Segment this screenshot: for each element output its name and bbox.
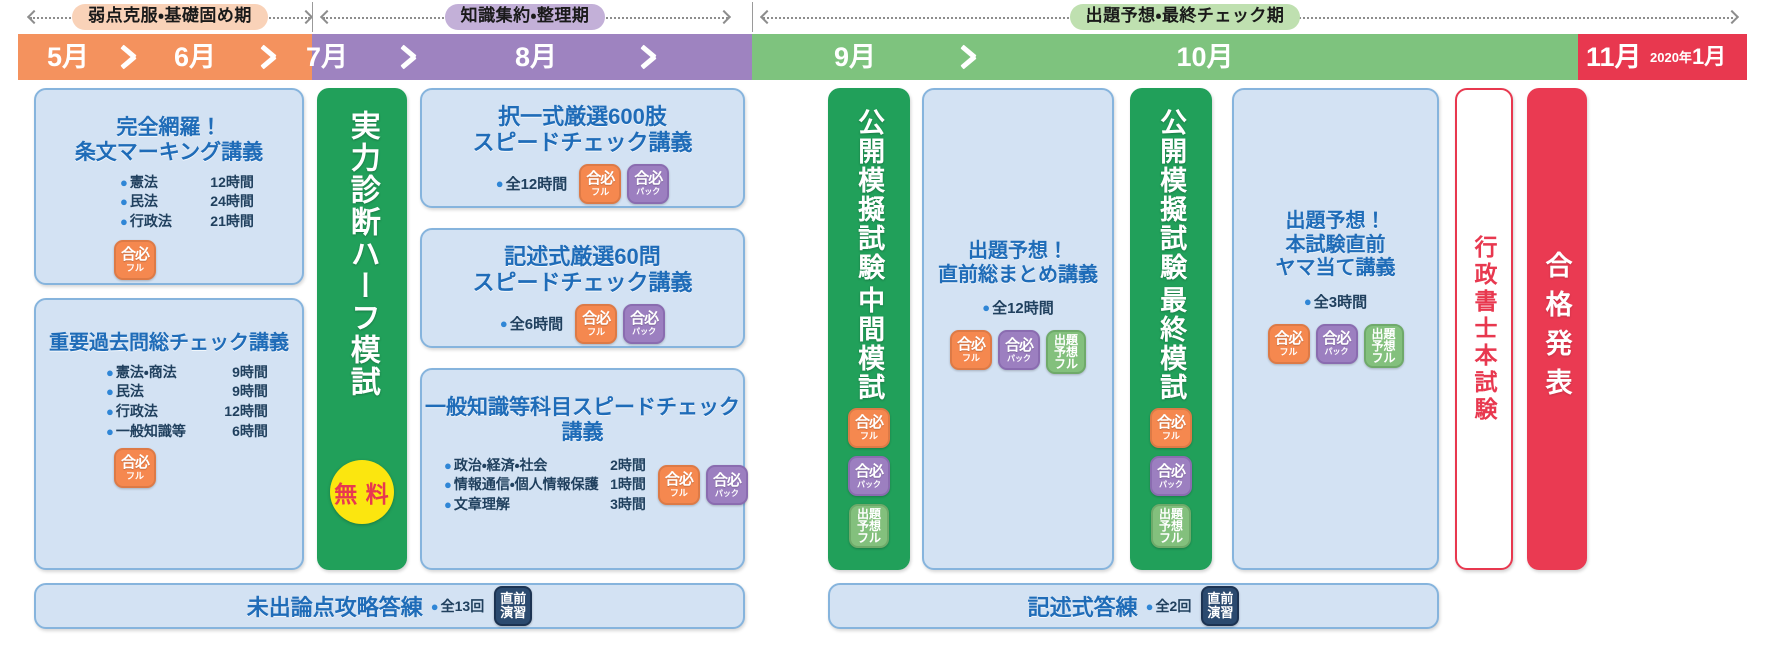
phase-arrow-right-3	[1727, 9, 1736, 25]
card-joubun-title-1: 完全網羅！	[36, 116, 302, 141]
total-hours: 全12時間	[992, 297, 1054, 318]
item-name: 一般知識等	[116, 422, 208, 442]
card-kijutsu-title-2: スピードチェック講義	[422, 270, 743, 296]
badge-line-3: フル	[1371, 352, 1395, 364]
card-yamaate-total: ● 全3時間	[1234, 291, 1437, 312]
badge-gou-pack[interactable]: 合必 パック	[706, 465, 748, 505]
badge-bottom-text: フル	[670, 489, 688, 498]
card-ippan-body: ● 政治・経済・社会 2時間 ● 情報通信・個人情報保護 1時間 ● 文章理解 …	[422, 456, 743, 516]
card-yamaate-title-2: 本試験直前	[1234, 234, 1437, 258]
item-hours: 2時間	[598, 456, 646, 476]
badge-line-3: フル	[1159, 532, 1183, 544]
badge-yosou-full[interactable]: 出題 予想 フル	[1151, 504, 1191, 548]
card-kakomon-check[interactable]: 重要過去問総チェック講義 ● 憲法・商法 9時間 ● 民法 9時間 ● 行政法 …	[34, 298, 304, 570]
item-name: 情報通信・個人情報保護	[454, 475, 598, 495]
month-label-11-text: 11月	[1586, 44, 1642, 71]
bullet-dot-icon: ●	[120, 174, 128, 192]
footer-bar-mishutsu[interactable]: 未出論点攻略答練 ●全13回 直前 演習	[34, 583, 745, 629]
item-name: 憲法	[130, 173, 192, 193]
phase-arrow-left-1	[28, 9, 37, 25]
badge-bottom-text: パック	[1325, 348, 1349, 356]
item-name: 民法	[116, 382, 208, 402]
badge-gou-pack[interactable]: 合必 パック	[623, 304, 665, 344]
phase-tick-2	[752, 2, 753, 32]
badge-top-text: 合必	[1157, 415, 1185, 430]
footer-bar-kijutsu-title: 記述式答練	[1028, 590, 1138, 622]
saishu-title-main: 公開模擬試験	[1157, 108, 1185, 282]
badge-bottom-text: パック	[1159, 481, 1183, 489]
bullet-dot-icon: ●	[1146, 599, 1154, 614]
badge-top-text: 合必	[1157, 464, 1185, 479]
month-label-10-text: 10月	[1176, 44, 1233, 71]
footer-bar-kijutsu-tanren[interactable]: 記述式答練 ●全2回 直前 演習	[828, 583, 1439, 629]
badge-top-text: 合必	[1274, 331, 1302, 346]
month-chevron-3	[398, 34, 428, 80]
phase-label-3: 出題予想・最終チェック期	[1070, 4, 1301, 31]
card-kakomon-title-1: 重要過去問総チェック講義	[36, 332, 302, 356]
badge-chokuzen-enshu[interactable]: 直前 演習	[1201, 586, 1239, 626]
badge-bottom-text: フル	[962, 354, 980, 363]
month-label-9-text: 9月	[834, 44, 876, 71]
badge-gou-full[interactable]: 合必 フル	[114, 448, 156, 488]
chukan-badges: 合必 フル 合必 パック 出題 予想 フル	[848, 408, 890, 548]
card-ippan-title-1: 一般知識等科目スピードチェック講義	[422, 396, 743, 446]
card-takuitsu-footer: ● 全12時間 合必 フル 合必 パック	[422, 164, 743, 204]
badge-bottom-text: パック	[632, 328, 656, 336]
badge-bottom-text: パック	[1007, 355, 1031, 363]
schedule-body: 完全網羅！ 条文マーキング講義 ● 憲法 12時間 ● 民法 24時間 ● 行政…	[0, 80, 1765, 652]
item-hours: 1時間	[598, 475, 646, 495]
footer-bar-mishutsu-title: 未出論点攻略答練	[247, 590, 423, 622]
card-kakomon-items: ● 憲法・商法 9時間 ● 民法 9時間 ● 行政法 12時間 ● 一般知識等	[36, 363, 302, 443]
total-hours: 全12時間	[506, 173, 568, 194]
badge-bottom-text: フル	[587, 328, 605, 337]
badge-yosou-full[interactable]: 出題 予想 フル	[1046, 330, 1086, 374]
badge-top-text: 合必	[586, 171, 614, 186]
list-item: ● 行政法 12時間	[106, 402, 302, 422]
badge-bottom-text: フル	[126, 472, 144, 481]
phase-arrow-left-2	[321, 9, 330, 25]
bullet-dot-icon: ●	[982, 300, 990, 315]
card-soumatome-badges: 合必 フル 合必 パック 出題 予想 フル	[924, 330, 1112, 374]
bullet-dot-icon: ●	[496, 176, 504, 191]
card-kijutsu-title-1: 記述式厳選60問	[422, 244, 743, 270]
badge-gou-pack[interactable]: 合必 パック	[1316, 324, 1358, 364]
badge-free: 無 料	[330, 460, 394, 524]
item-hours: 24時間	[192, 192, 254, 212]
badge-gou-pack[interactable]: 合必 パック	[1150, 456, 1192, 496]
phase-arrow-right-2	[719, 9, 728, 25]
badge-line-2: 演習	[500, 606, 526, 620]
badge-yosou-full[interactable]: 出題 予想 フル	[849, 504, 889, 548]
list-item: ● 憲法・商法 9時間	[106, 363, 302, 383]
card-yamaate-title-3: ヤマ当て講義	[1234, 257, 1437, 281]
badge-chokuzen-enshu[interactable]: 直前 演習	[494, 586, 532, 626]
phase-segment-2: 知識集約・整理期	[430, 0, 620, 34]
month-label-11: 11月	[1586, 34, 1646, 80]
count-text: 全13回	[441, 598, 485, 614]
card-kijutsu-total: ● 全6時間	[500, 313, 563, 334]
item-name: 行政法	[130, 212, 192, 232]
item-hours: 9時間	[208, 382, 268, 402]
month-label-10: 10月	[1120, 34, 1290, 80]
list-item: ● 情報通信・個人情報保護 1時間	[444, 475, 646, 495]
footer-bar-mishutsu-count: ●全13回	[431, 596, 484, 616]
month-label-8: 8月	[452, 34, 620, 80]
item-hours: 3時間	[598, 495, 646, 515]
schedule-infographic: 弱点克服・基礎固め期 知識集約・整理期 出題予想・最終チェック期 5月	[0, 0, 1765, 652]
month-label-7: 7月	[272, 34, 382, 80]
card-ippan-badges: 合必 フル 合必 パック	[658, 465, 748, 505]
item-name: 民法	[130, 192, 192, 212]
card-soumatome-title-1: 出題予想！	[924, 240, 1112, 264]
card-kijutsu-badges: 合必 フル 合必 パック	[575, 304, 665, 344]
item-hours: 6時間	[208, 422, 268, 442]
badge-gou-full[interactable]: 合必 フル	[114, 240, 156, 280]
phase-arrow-left-3	[761, 9, 770, 25]
total-hours: 全3時間	[1314, 291, 1367, 312]
badge-gou-full[interactable]: 合必 フル	[658, 465, 700, 505]
badge-gou-pack[interactable]: 合必 パック	[627, 164, 669, 204]
badge-yosou-full[interactable]: 出題 予想 フル	[1364, 324, 1404, 368]
card-soumatome-total: ● 全12時間	[924, 297, 1112, 318]
bullet-dot-icon: ●	[106, 403, 114, 421]
count-text: 全2回	[1156, 598, 1192, 614]
phase-segment-3: 出題予想・最終チェック期	[1040, 0, 1330, 34]
bullet-dot-icon: ●	[500, 316, 508, 331]
chukan-title-main: 公開模擬試験	[855, 108, 883, 282]
honshiken-label: 行政書士本試験	[1467, 235, 1501, 424]
bullet-dot-icon: ●	[444, 496, 452, 514]
card-kakomon-badges: 合必 フル	[114, 448, 156, 488]
badge-line-1: 出題	[1371, 328, 1395, 340]
chukan-title-sub: 中間模試	[855, 286, 883, 402]
card-takuitsu-title-2: スピードチェック講義	[422, 130, 743, 156]
goukaku-label: 合格発表	[1538, 251, 1577, 407]
bullet-dot-icon: ●	[444, 476, 452, 494]
card-joubun-badges: 合必 フル	[114, 240, 156, 280]
month-label-5: 5月	[20, 34, 116, 80]
phase-tick-1	[312, 2, 313, 32]
card-takuitsu-total: ● 全12時間	[496, 173, 568, 194]
list-item: ● 民法 24時間	[120, 192, 302, 212]
badge-gou-full[interactable]: 合必 フル	[579, 164, 621, 204]
card-soumatome[interactable]: 出題予想！ 直前総まとめ講義 ● 全12時間 合必 フル 合必 パック 出題 予…	[922, 88, 1114, 570]
phase-arrow-right-1	[301, 9, 310, 25]
badge-bottom-text: フル	[126, 264, 144, 273]
item-hours: 21時間	[192, 212, 254, 232]
list-item: ● 文章理解 3時間	[444, 495, 646, 515]
card-takuitsu-badges: 合必 フル 合必 パック	[579, 164, 669, 204]
badge-bottom-text: パック	[857, 481, 881, 489]
badge-gou-full[interactable]: 合必 フル	[1268, 324, 1310, 364]
badge-bottom-text: フル	[1279, 348, 1297, 357]
badge-line-2: 予想	[1371, 340, 1395, 352]
badge-bottom-text: パック	[636, 188, 660, 196]
item-hours: 12時間	[208, 402, 268, 422]
exam-column-honshiken: 行政書士本試験	[1455, 88, 1513, 570]
badge-top-text: 合必	[1322, 331, 1350, 346]
item-name: 憲法・商法	[116, 363, 208, 383]
bullet-dot-icon: ●	[120, 213, 128, 231]
year-month: 1月	[1692, 46, 1726, 68]
saishu-badges: 合必 フル 合必 パック 出題 予想 フル	[1150, 408, 1192, 548]
saishu-title-sub: 最終模試	[1157, 286, 1185, 402]
badge-gou-pack[interactable]: 合必 パック	[848, 456, 890, 496]
month-chevron-5	[958, 34, 988, 80]
badge-line-1: 直前	[1207, 592, 1233, 606]
badge-line-2: 演習	[1207, 606, 1233, 620]
bullet-dot-icon: ●	[444, 457, 452, 475]
list-item: ● 憲法 12時間	[120, 173, 302, 193]
footer-bar-kijutsu-count: ●全2回	[1146, 596, 1192, 616]
phase-label-row: 弱点克服・基礎固め期 知識集約・整理期 出題予想・最終チェック期	[0, 0, 1765, 34]
badge-bottom-text: フル	[1162, 432, 1180, 441]
badge-bottom-text: フル	[591, 188, 609, 197]
card-ippan-chishiki[interactable]: 一般知識等科目スピードチェック講義 ● 政治・経済・社会 2時間 ● 情報通信・…	[420, 368, 745, 570]
badge-top-text: 合必	[855, 415, 883, 430]
bullet-dot-icon: ●	[106, 423, 114, 441]
list-item: ● 行政法 21時間	[120, 212, 302, 232]
list-item: ● 政治・経済・社会 2時間	[444, 456, 646, 476]
month-label-6: 6月	[140, 34, 250, 80]
phase-segment-1: 弱点克服・基礎固め期	[60, 0, 280, 34]
badge-top-text: 合必	[713, 473, 741, 488]
badge-line-3: フル	[857, 532, 881, 544]
list-item: ● 民法 9時間	[106, 382, 302, 402]
card-takuitsu-title-1: 択一式厳選600肢	[422, 104, 743, 130]
month-label-5-text: 5月	[47, 44, 89, 71]
badge-gou-pack[interactable]: 合必 パック	[998, 330, 1040, 370]
badge-bottom-text: パック	[715, 490, 739, 498]
year-nen: 年	[1679, 51, 1692, 64]
badge-top-text: 合必	[634, 171, 662, 186]
green-column-saishu-moshi[interactable]: 公開模擬試験 最終模試 合必 フル 合必 パック 出題 予想 フル	[1130, 88, 1212, 570]
bullet-dot-icon: ●	[106, 364, 114, 382]
year-prefix: 2020	[1650, 51, 1679, 64]
month-chevron-4	[638, 34, 668, 80]
badge-top-text: 合必	[630, 311, 658, 326]
badge-top-text: 合必	[665, 472, 693, 487]
badge-line-1: 直前	[500, 592, 526, 606]
badge-bottom-text: フル	[860, 432, 878, 441]
list-item: ● 一般知識等 6時間	[106, 422, 302, 442]
exam-column-goukaku: 合格発表	[1527, 88, 1587, 570]
card-yamaate-badges: 合必 フル 合必 パック 出題 予想 フル	[1234, 324, 1437, 368]
badge-top-text: 合必	[957, 337, 985, 352]
bullet-dot-icon: ●	[431, 599, 439, 614]
badge-line-3: フル	[1054, 358, 1078, 370]
total-hours: 全6時間	[510, 313, 563, 334]
card-joubun-marking[interactable]: 完全網羅！ 条文マーキング講義 ● 憲法 12時間 ● 民法 24時間 ● 行政…	[34, 88, 304, 285]
item-hours: 12時間	[192, 173, 254, 193]
card-ippan-items: ● 政治・経済・社会 2時間 ● 情報通信・個人情報保護 1時間 ● 文章理解 …	[444, 456, 646, 516]
item-name: 政治・経済・社会	[454, 456, 598, 476]
bullet-dot-icon: ●	[120, 193, 128, 211]
badge-gou-full[interactable]: 合必 フル	[575, 304, 617, 344]
badge-gou-full[interactable]: 合必 フル	[1150, 408, 1192, 448]
card-joubun-items: ● 憲法 12時間 ● 民法 24時間 ● 行政法 21時間	[36, 173, 302, 233]
badge-top-text: 合必	[121, 247, 149, 262]
card-kijutsu-60[interactable]: 記述式厳選60問 スピードチェック講義 ● 全6時間 合必 フル 合必 パック	[420, 228, 745, 348]
month-label-7-text: 7月	[306, 44, 348, 71]
month-label-8-text: 8月	[515, 44, 557, 71]
bullet-dot-icon: ●	[106, 383, 114, 401]
card-takuitsu-600[interactable]: 択一式厳選600肢 スピードチェック講義 ● 全12時間 合必 フル 合必 パッ…	[420, 88, 745, 208]
badge-gou-full[interactable]: 合必 フル	[848, 408, 890, 448]
badge-gou-full[interactable]: 合必 フル	[950, 330, 992, 370]
badge-top-text: 合必	[855, 464, 883, 479]
green-column-half-moshi[interactable]: 実力診断ハーフ模試 無 料	[317, 88, 407, 570]
month-label-9: 9月	[770, 34, 940, 80]
bullet-dot-icon: ●	[1304, 294, 1312, 309]
phase-label-2: 知識集約・整理期	[445, 4, 606, 31]
item-name: 行政法	[116, 402, 208, 422]
half-moshi-title: 実力診断ハーフ模試	[346, 110, 378, 398]
green-column-chukan-moshi[interactable]: 公開模擬試験 中間模試 合必 フル 合必 パック 出題 予想 フル	[828, 88, 910, 570]
item-hours: 9時間	[208, 363, 268, 383]
year-label: 2020年1月	[1650, 34, 1750, 80]
card-kijutsu-footer: ● 全6時間 合必 フル 合必 パック	[422, 304, 743, 344]
card-yamaate[interactable]: 出題予想！ 本試験直前 ヤマ当て講義 ● 全3時間 合必 フル 合必 パック 出…	[1232, 88, 1439, 570]
card-yamaate-title-1: 出題予想！	[1234, 210, 1437, 234]
card-joubun-title-2: 条文マーキング講義	[36, 141, 302, 166]
badge-top-text: 合必	[1005, 338, 1033, 353]
phase-label-1: 弱点克服・基礎固め期	[72, 4, 268, 31]
card-soumatome-title-2: 直前総まとめ講義	[924, 264, 1112, 288]
month-label-6-text: 6月	[174, 44, 216, 71]
badge-top-text: 合必	[121, 455, 149, 470]
month-timeline-bar: 5月 6月 7月 8月 9月 10月 11月 2020年1月	[0, 34, 1765, 80]
badge-free-text: 無 料	[334, 475, 389, 509]
badge-top-text: 合必	[582, 311, 610, 326]
item-name: 文章理解	[454, 495, 598, 515]
